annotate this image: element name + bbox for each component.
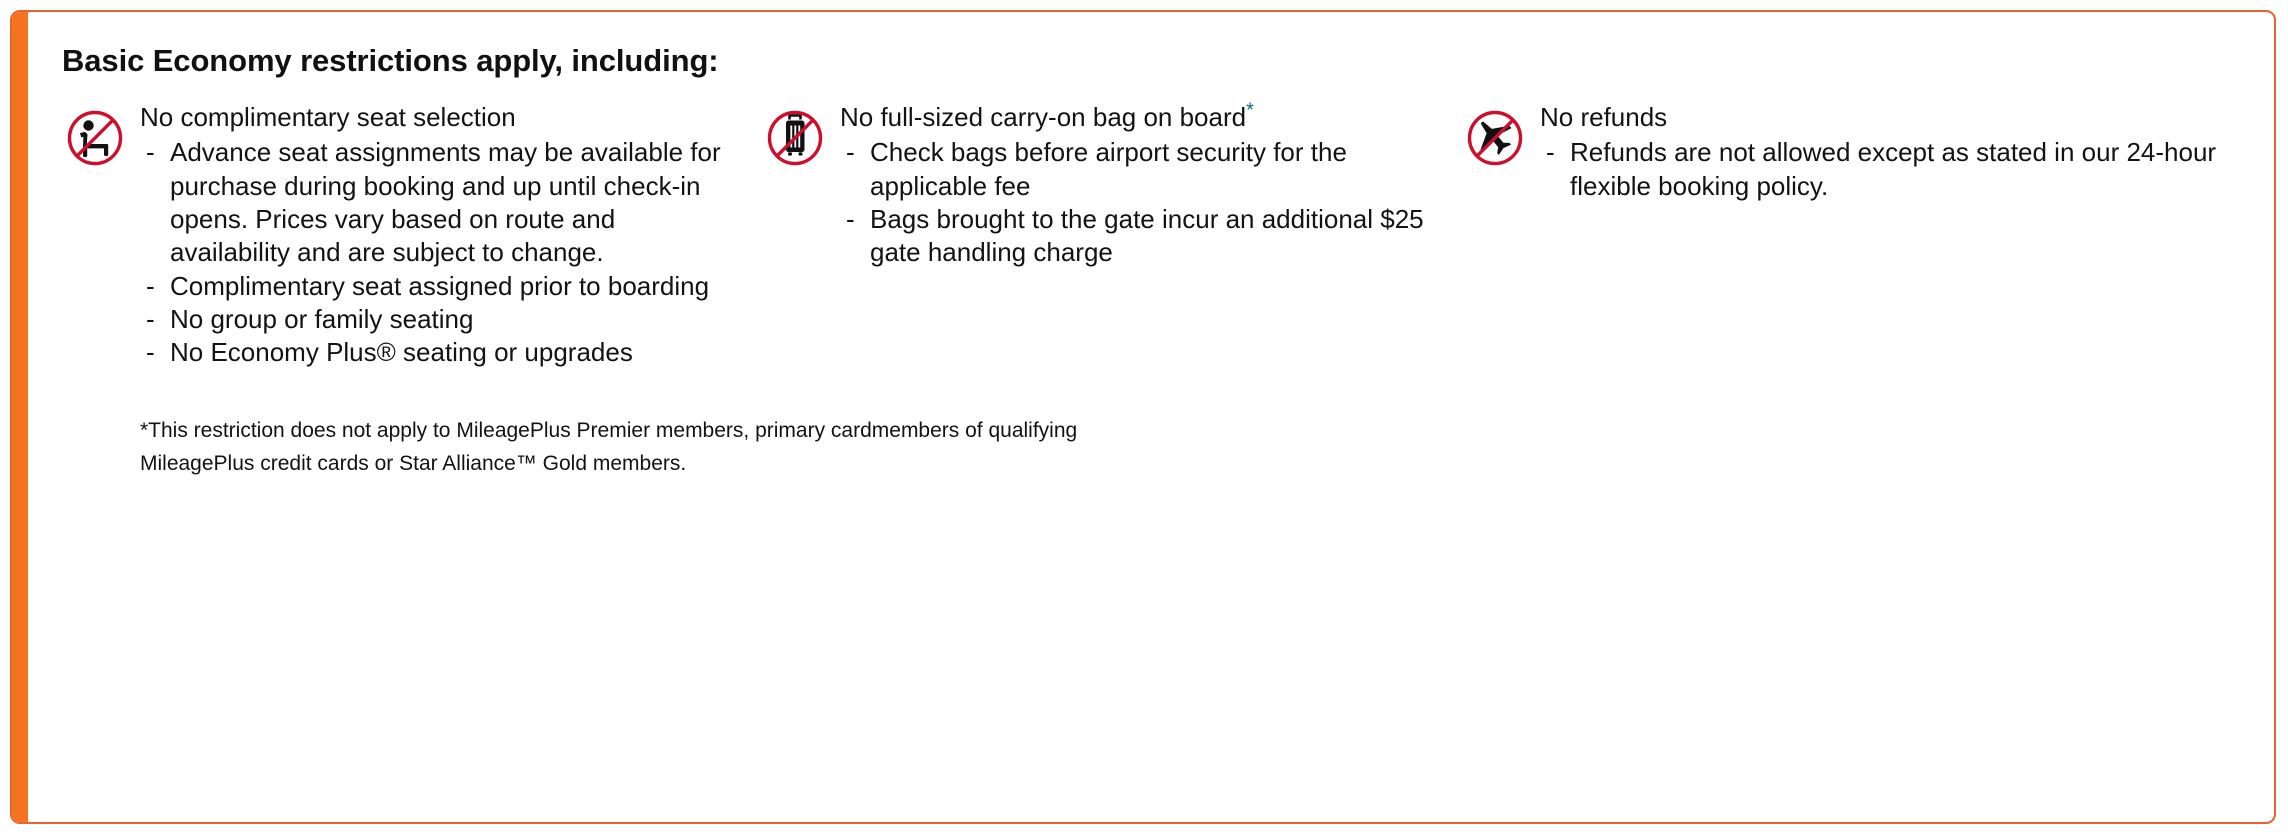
restriction-bullet-list: -Advance seat assignments may be availab… bbox=[140, 136, 742, 369]
list-item: -Refunds are not allowed except as state… bbox=[1540, 136, 2222, 203]
bullet-dash: - bbox=[146, 336, 155, 369]
restriction-heading: No full-sized carry-on bag on board* bbox=[840, 101, 1442, 134]
restriction-heading-label: No refunds bbox=[1540, 102, 1667, 132]
restrictions-columns: No complimentary seat selection -Advance… bbox=[62, 101, 2248, 369]
list-item-text: Advance seat assignments may be availabl… bbox=[170, 137, 721, 267]
bullet-dash: - bbox=[146, 303, 155, 336]
bullet-dash: - bbox=[146, 270, 155, 303]
list-item-text: Refunds are not allowed except as stated… bbox=[1570, 137, 2216, 200]
restriction-text-block: No complimentary seat selection -Advance… bbox=[140, 101, 742, 369]
basic-economy-restrictions-card: Basic Economy restrictions apply, includ… bbox=[10, 10, 2276, 824]
no-seat-selection-icon bbox=[62, 105, 128, 171]
restriction-heading: No refunds bbox=[1540, 101, 2222, 134]
bullet-dash: - bbox=[846, 136, 855, 169]
restriction-bullet-list: -Refunds are not allowed except as state… bbox=[1540, 136, 2222, 203]
list-item-text: No group or family seating bbox=[170, 304, 473, 334]
restriction-bullet-list: -Check bags before airport security for … bbox=[840, 136, 1442, 269]
list-item: -Advance seat assignments may be availab… bbox=[140, 136, 742, 269]
list-item: -Complimentary seat assigned prior to bo… bbox=[140, 270, 742, 303]
footnote-marker: * bbox=[1246, 100, 1254, 122]
restriction-text-block: No full-sized carry-on bag on board* -Ch… bbox=[840, 101, 1442, 269]
orange-accent-bar bbox=[12, 12, 28, 822]
list-item-text: Check bags before airport security for t… bbox=[870, 137, 1347, 200]
list-item-text: Complimentary seat assigned prior to boa… bbox=[170, 271, 709, 301]
page-root: Basic Economy restrictions apply, includ… bbox=[0, 0, 2288, 834]
list-item: -No group or family seating bbox=[140, 303, 742, 336]
restriction-group-seat-selection: No complimentary seat selection -Advance… bbox=[62, 101, 762, 369]
bullet-dash: - bbox=[846, 203, 855, 236]
bullet-dash: - bbox=[1546, 136, 1555, 169]
list-item-text: Bags brought to the gate incur an additi… bbox=[870, 204, 1424, 267]
restriction-group-carry-on-bag: No full-sized carry-on bag on board* -Ch… bbox=[762, 101, 1462, 269]
footnote-text: *This restriction does not apply to Mile… bbox=[140, 415, 1150, 480]
restriction-group-no-refunds: No refunds -Refunds are not allowed exce… bbox=[1462, 101, 2222, 203]
bullet-dash: - bbox=[146, 136, 155, 169]
restriction-text-block: No refunds -Refunds are not allowed exce… bbox=[1540, 101, 2222, 203]
card-body: Basic Economy restrictions apply, includ… bbox=[28, 12, 2274, 822]
restriction-heading-label: No full-sized carry-on bag on board bbox=[840, 102, 1246, 132]
no-carry-on-bag-icon bbox=[762, 105, 828, 171]
list-item: -No Economy Plus® seating or upgrades bbox=[140, 336, 742, 369]
list-item: -Bags brought to the gate incur an addit… bbox=[840, 203, 1442, 270]
no-refunds-plane-icon bbox=[1462, 105, 1528, 171]
restriction-heading: No complimentary seat selection bbox=[140, 101, 742, 134]
list-item-text: No Economy Plus® seating or upgrades bbox=[170, 337, 633, 367]
page-title: Basic Economy restrictions apply, includ… bbox=[62, 42, 2248, 79]
list-item: -Check bags before airport security for … bbox=[840, 136, 1442, 203]
restriction-heading-label: No complimentary seat selection bbox=[140, 102, 516, 132]
